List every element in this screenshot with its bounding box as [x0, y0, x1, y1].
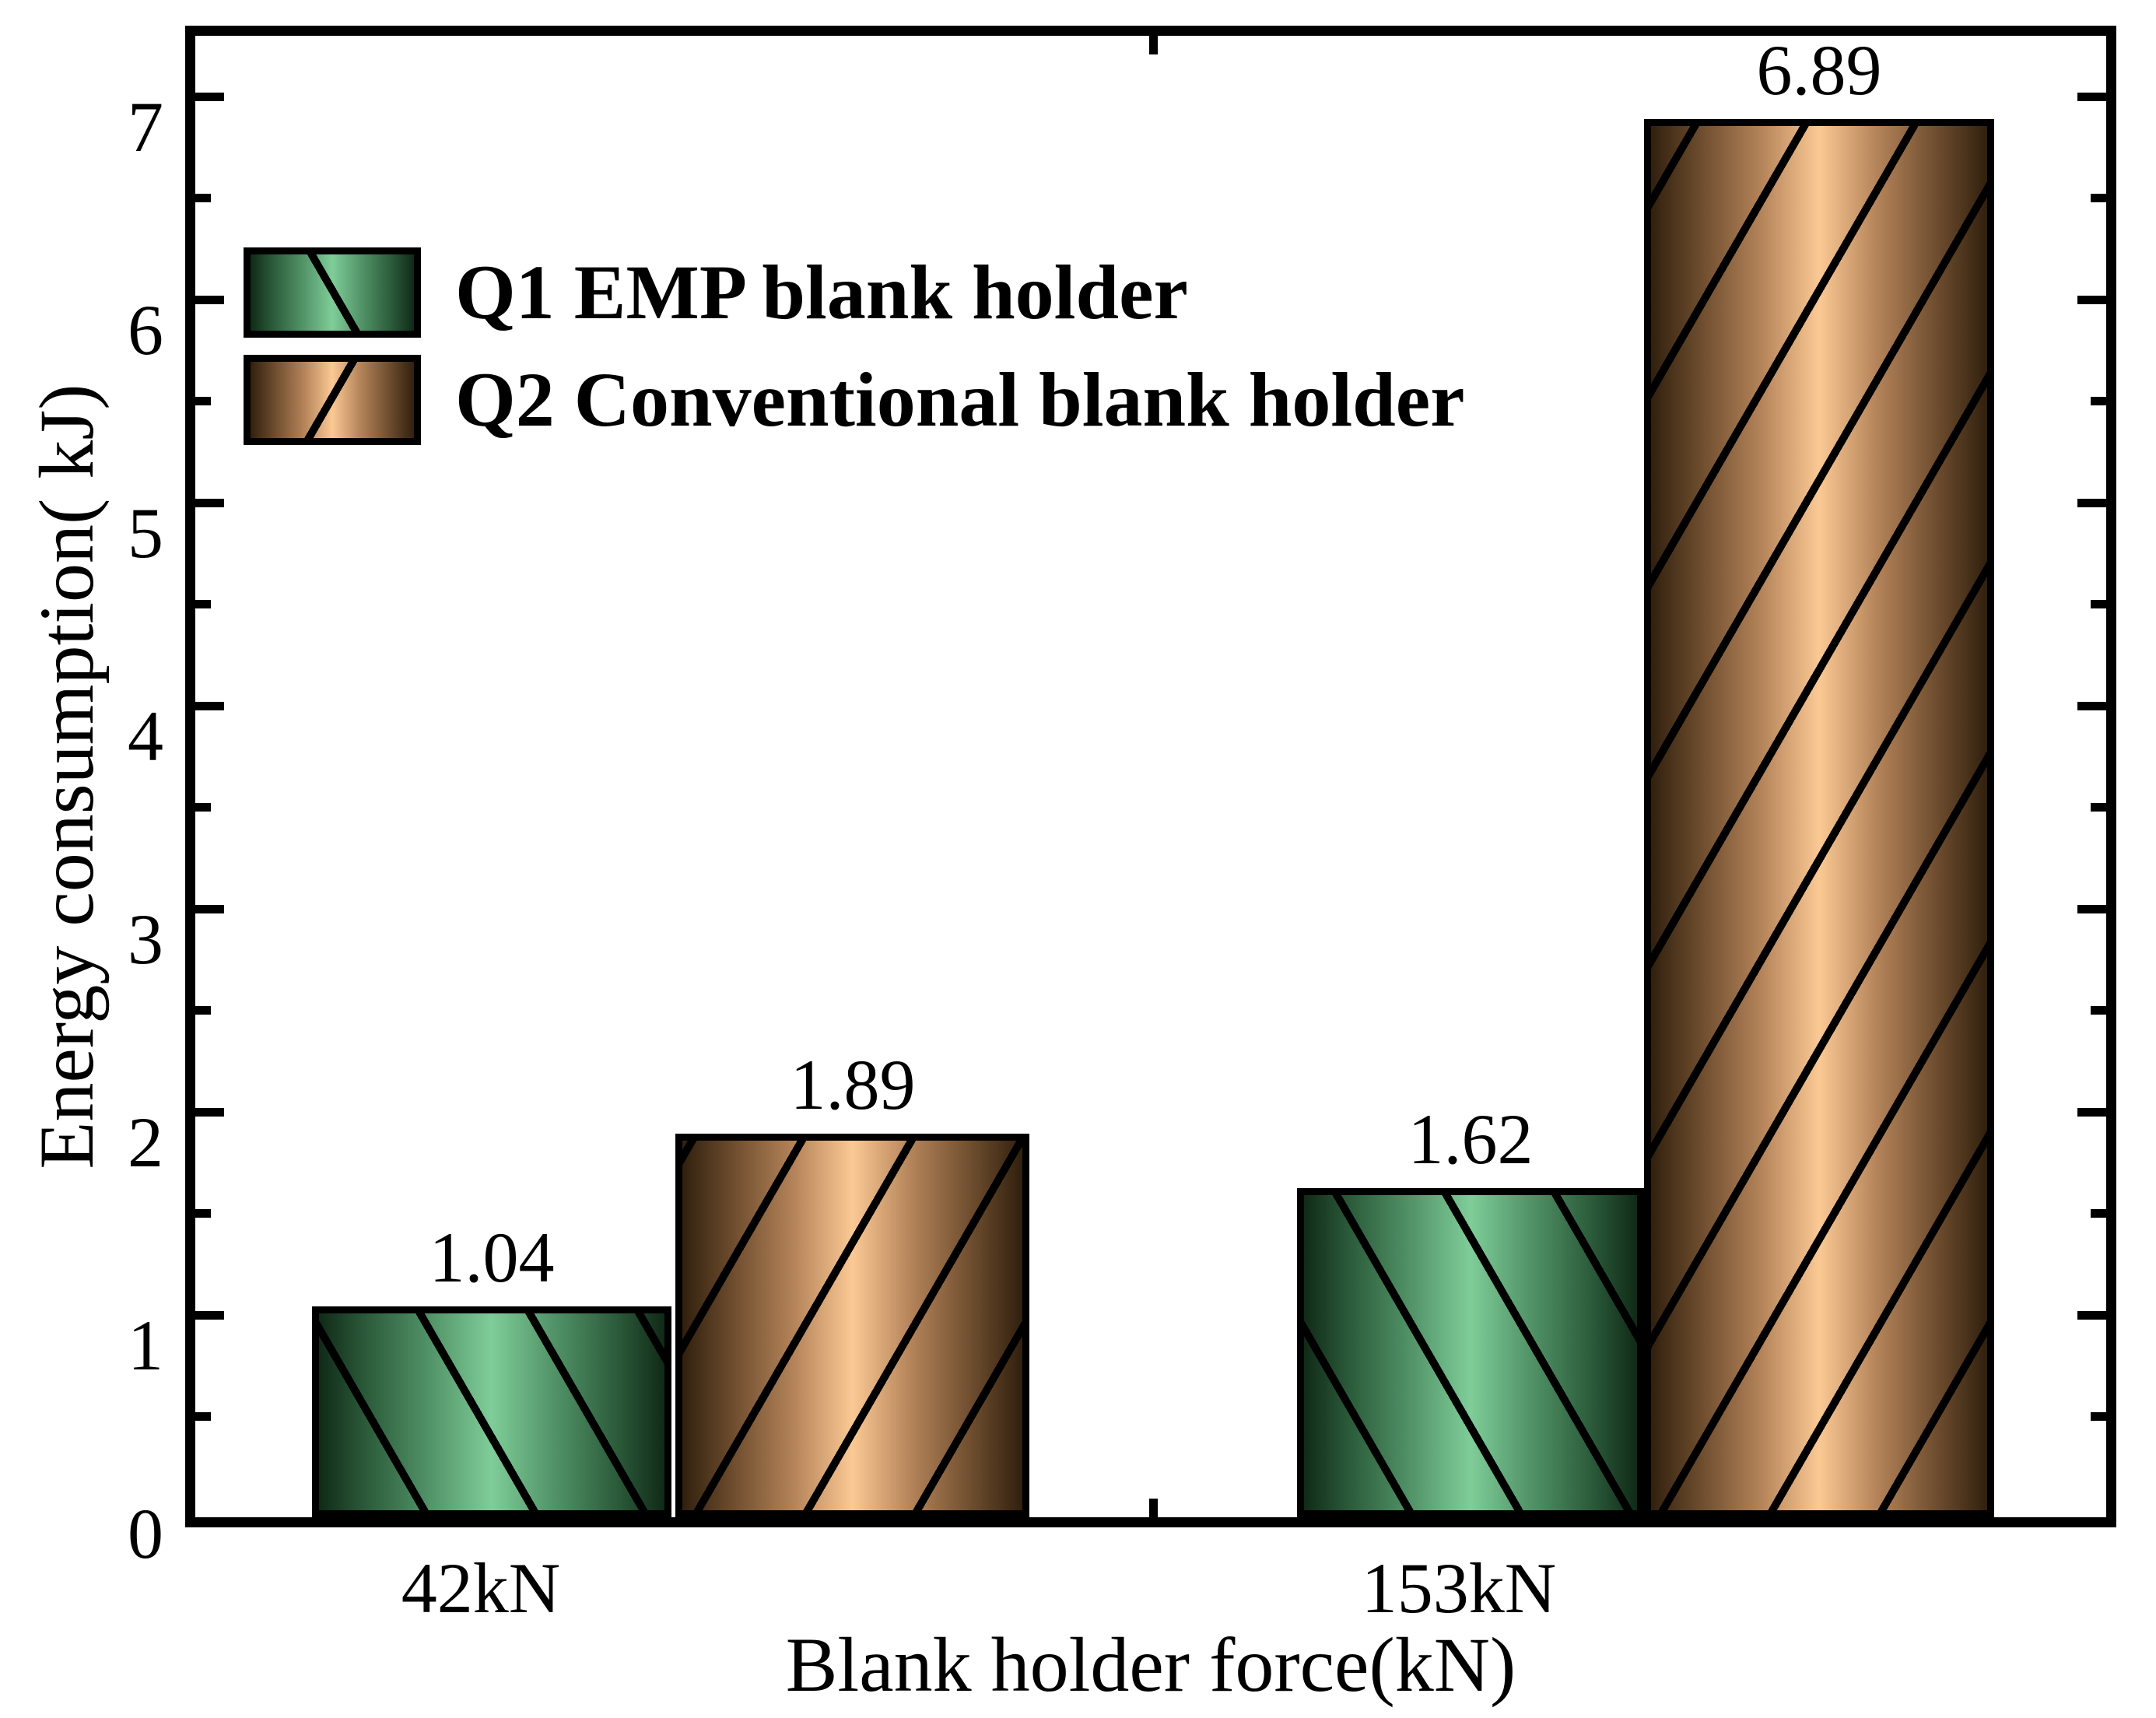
legend-fill-orange	[251, 362, 414, 438]
y-minor-tick-0-5	[195, 1412, 211, 1421]
y-tick-label-5: 5	[62, 497, 163, 569]
plot-area: 1.04 1.89 1.62 6.89 Q1 EMP blank holder …	[185, 26, 2116, 1527]
x-axis-title: Blank holder force(kN)	[185, 1626, 2116, 1704]
y-minor-tick-4-5	[195, 600, 211, 608]
y-minor-tick-2-5	[195, 1006, 211, 1015]
y-minor-tick-right-3-5	[2091, 803, 2106, 812]
y-minor-tick-3-5	[195, 803, 211, 812]
y-major-tick-3	[195, 905, 224, 913]
bar-fill-orange	[682, 1141, 1022, 1510]
y-minor-tick-6-5	[195, 194, 211, 202]
bar-fill-green	[319, 1313, 664, 1510]
y-tick-label-7: 7	[62, 91, 163, 163]
y-minor-tick-right-0-5	[2091, 1412, 2106, 1421]
y-major-tick-right-5	[2077, 499, 2106, 507]
y-major-tick-right-1	[2077, 1311, 2106, 1320]
bar-chart-figure: Energy consumption( kJ) 7 6 5 4 3 2 1 0	[0, 0, 2156, 1718]
legend-label-q1: Q1 EMP blank holder	[455, 254, 1188, 331]
bar-value-153kn-q2: 6.89	[1757, 34, 1882, 106]
y-tick-label-6: 6	[62, 294, 163, 366]
bar-fill-orange	[1651, 126, 1987, 1510]
x-minor-tick-mid-top	[1149, 36, 1158, 54]
bar-value-42kn-q2: 1.89	[791, 1049, 916, 1120]
y-major-tick-2	[195, 1108, 224, 1117]
y-major-tick-right-6	[2077, 296, 2106, 304]
y-axis-title-container: Energy consumption( kJ)	[23, 26, 109, 1527]
y-major-tick-right-7	[2077, 93, 2106, 101]
y-major-tick-7	[195, 93, 224, 101]
y-tick-label-2: 2	[62, 1106, 163, 1178]
y-major-tick-6	[195, 296, 224, 304]
y-minor-tick-right-2-5	[2091, 1006, 2106, 1015]
bar-fill-green	[1304, 1195, 1637, 1510]
y-minor-tick-5-5	[195, 397, 211, 405]
y-axis-title: Energy consumption( kJ)	[23, 26, 109, 1527]
y-tick-label-1: 1	[62, 1310, 163, 1381]
bar-153kn-q1[interactable]	[1297, 1188, 1644, 1517]
bar-42kn-q1[interactable]	[312, 1306, 671, 1517]
y-tick-label-4: 4	[62, 700, 163, 772]
bar-153kn-q2[interactable]	[1644, 119, 1994, 1517]
legend-item-q1[interactable]: Q1 EMP blank holder	[244, 247, 1465, 338]
legend-label-q2: Q2 Conventional blank holder	[455, 361, 1465, 439]
y-major-tick-4	[195, 702, 224, 710]
y-minor-tick-right-1-5	[2091, 1209, 2106, 1218]
x-tick-label-42kn: 42kN	[401, 1552, 560, 1624]
plot-inner: 1.04 1.89 1.62 6.89 Q1 EMP blank holder …	[195, 36, 2106, 1517]
bar-value-153kn-q1: 1.62	[1408, 1103, 1534, 1175]
legend: Q1 EMP blank holder Q2 Conventional blan…	[244, 247, 1465, 462]
y-major-tick-5	[195, 499, 224, 507]
bar-42kn-q2[interactable]	[675, 1134, 1029, 1517]
bar-value-42kn-q1: 1.04	[429, 1222, 555, 1293]
y-major-tick-right-3	[2077, 905, 2106, 913]
x-tick-label-153kn: 153kN	[1362, 1552, 1556, 1624]
legend-swatch-q1-icon	[244, 247, 421, 338]
y-major-tick-right-2	[2077, 1108, 2106, 1117]
y-minor-tick-right-4-5	[2091, 600, 2106, 608]
legend-item-q2[interactable]: Q2 Conventional blank holder	[244, 355, 1465, 445]
y-tick-label-0: 0	[62, 1498, 163, 1569]
y-minor-tick-1-5	[195, 1209, 211, 1218]
x-minor-tick-mid	[1149, 1499, 1158, 1517]
y-minor-tick-right-6-5	[2091, 194, 2106, 202]
y-minor-tick-right-5-5	[2091, 397, 2106, 405]
legend-swatch-q2-icon	[244, 355, 421, 445]
y-major-tick-1	[195, 1311, 224, 1320]
y-major-tick-right-4	[2077, 702, 2106, 710]
legend-fill-green	[251, 254, 414, 331]
y-tick-label-3: 3	[62, 903, 163, 975]
